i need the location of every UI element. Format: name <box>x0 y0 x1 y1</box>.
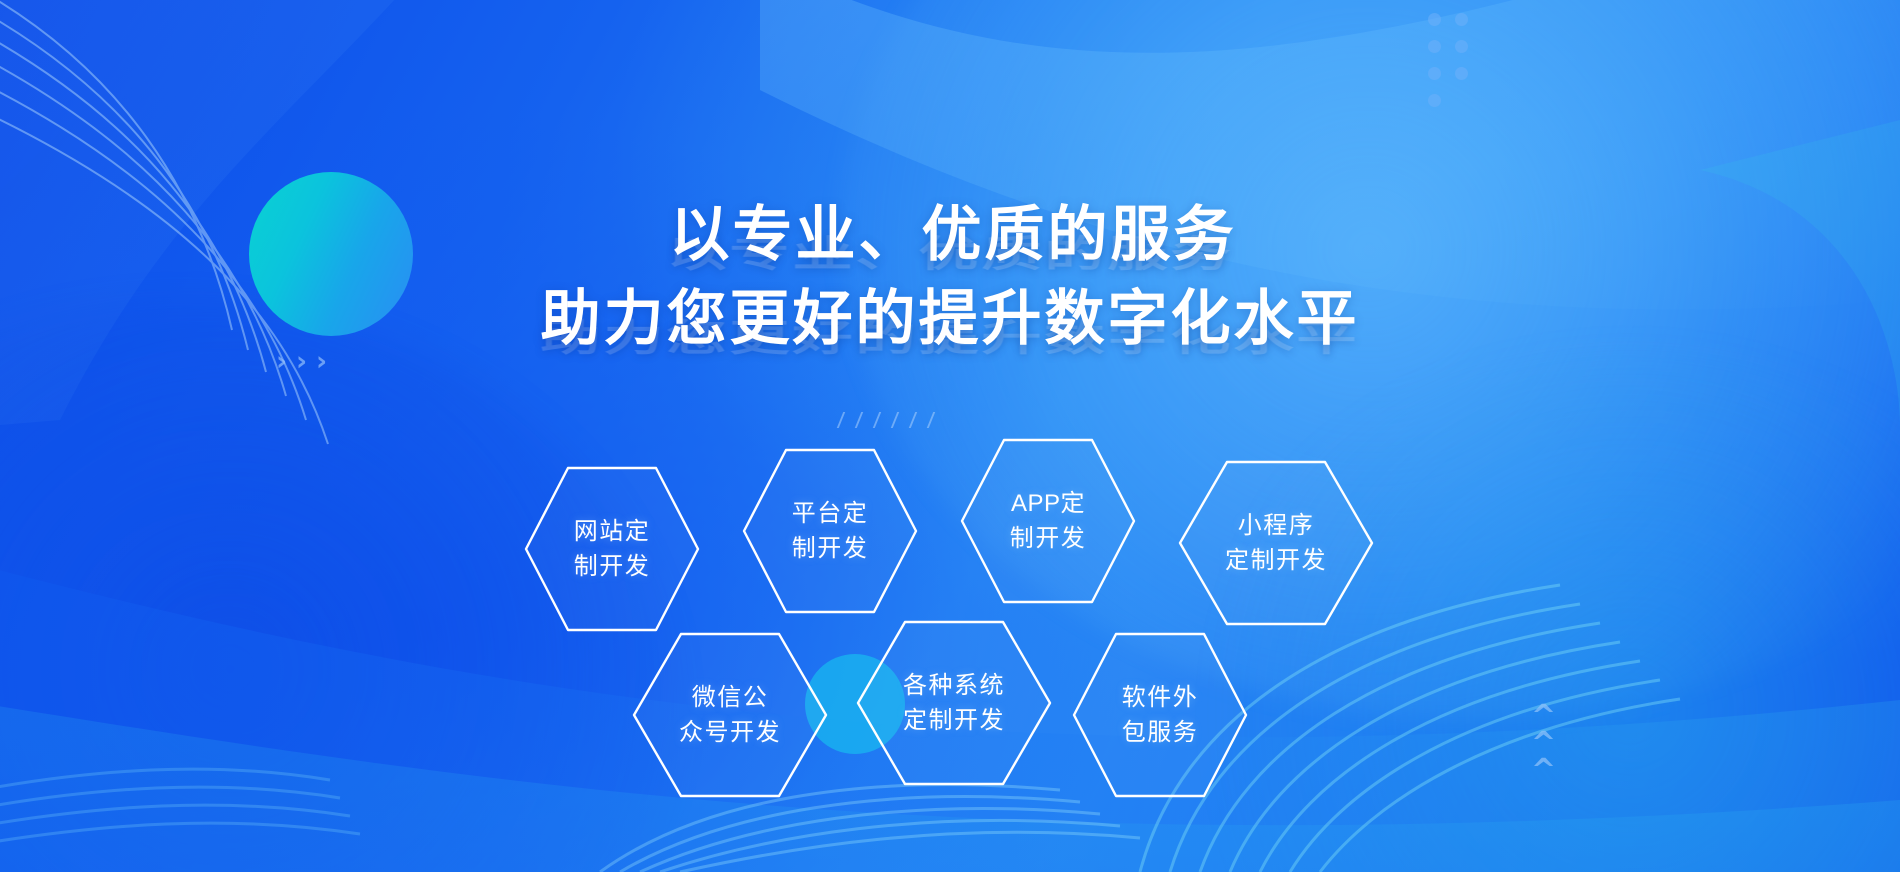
service-hex-systems[interactable]: 各种系统 定制开发 <box>856 618 1052 788</box>
headline-line-2: 助力您更好的提升数字化水平 助力您更好的提升数字化水平 <box>0 280 1900 358</box>
service-hex-platform-line2: 制开发 <box>792 536 869 562</box>
service-hex-website[interactable]: 网站定 制开发 <box>524 464 700 634</box>
service-hex-website-line1: 网站定 <box>574 519 651 545</box>
headline-block: 以专业、优质的服务 以专业、优质的服务 助力您更好的提升数字化水平 助力您更好的… <box>0 196 1900 358</box>
service-hex-website-line2: 制开发 <box>574 554 651 580</box>
promo-banner: › › › ^ ^ ^ 以专业、优质的服务 以专业、优质的服务 助力您更好的提升… <box>0 0 1900 872</box>
service-hex-app-line1: APP定 <box>1011 491 1085 517</box>
service-hex-platform-line1: 平台定 <box>792 501 869 527</box>
headline-line-1-text: 以专业、优质的服务 <box>670 201 1237 268</box>
service-hex-miniprogram-line2: 定制开发 <box>1225 548 1327 574</box>
service-hex-systems-line2: 定制开发 <box>903 708 1005 734</box>
service-hex-miniprogram[interactable]: 小程序 定制开发 <box>1178 458 1374 628</box>
service-hex-wechat[interactable]: 微信公 众号开发 <box>632 630 828 800</box>
service-hex-outsourcing-line1: 软件外 <box>1122 685 1199 711</box>
service-hex-app[interactable]: APP定 制开发 <box>960 436 1136 606</box>
service-hex-app-line2: 制开发 <box>1010 526 1087 552</box>
service-hex-wechat-line2: 众号开发 <box>679 720 781 746</box>
service-hexagon-grid: 网站定 制开发 平台定 制开发 APP定 制开发 小程序 定制开发 <box>0 0 1900 872</box>
service-hex-systems-line1: 各种系统 <box>903 673 1005 699</box>
headline-line-2-text: 助力您更好的提升数字化水平 <box>541 285 1360 352</box>
service-hex-miniprogram-line1: 小程序 <box>1238 513 1315 539</box>
service-hex-outsourcing-line2: 包服务 <box>1122 720 1199 746</box>
service-hex-wechat-line1: 微信公 <box>692 685 769 711</box>
headline-line-1: 以专业、优质的服务 以专业、优质的服务 <box>0 196 1900 274</box>
service-hex-outsourcing[interactable]: 软件外 包服务 <box>1072 630 1248 800</box>
service-hex-platform[interactable]: 平台定 制开发 <box>742 446 918 616</box>
